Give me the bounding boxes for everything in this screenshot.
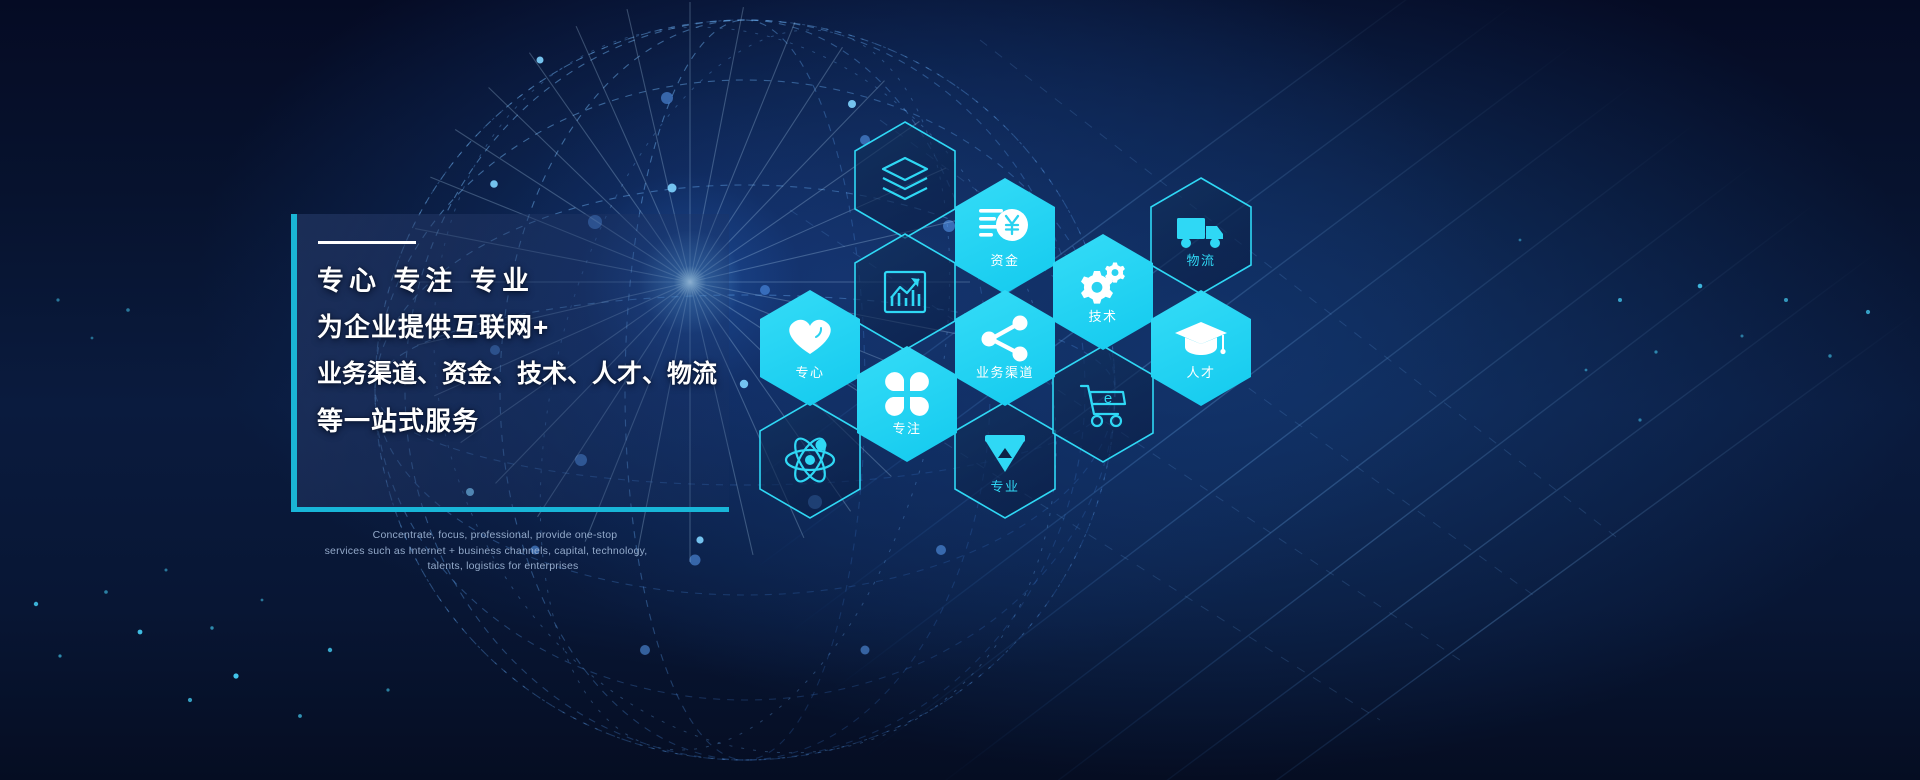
hexagon-label-zhuanye: 专业 [990, 476, 1019, 495]
headline-line-2: 为企业提供互联网+ [317, 304, 737, 351]
headline-line-4: 等一站式服务 [317, 398, 737, 445]
hexagon-label-yewuqudao: 业务渠道 [976, 362, 1034, 381]
hexagon-label-zijin: 资金 [990, 250, 1019, 269]
hexagon-zijin[interactable] [955, 178, 1055, 294]
subtitle-line-3: talents, logistics for enterprises [346, 559, 660, 575]
headline-text: 专心 专注 专业 为企业提供互联网+ 业务渠道、资金、技术、人才、物流 等一站式… [317, 258, 737, 445]
hexagon-yewuqudao[interactable] [955, 290, 1055, 406]
hexagon-atom[interactable] [760, 402, 860, 518]
hexagon-label-wuliu: 物流 [1186, 250, 1215, 269]
hexagon-label-zhuanzhu: 专注 [892, 418, 921, 437]
svg-text:e: e [1104, 390, 1112, 407]
hexagon-label-jishu: 技术 [1088, 306, 1117, 325]
headline-line-3: 业务渠道、资金、技术、人才、物流 [317, 351, 737, 398]
hexagon-label-zhuanxin: 专心 [795, 362, 824, 381]
hexagon-grid: e [735, 100, 1295, 540]
hexagon-zhuanzhu[interactable] [857, 346, 957, 462]
headline-line-1: 专心 专注 专业 [317, 258, 737, 304]
headline-panel: 专心 专注 专业 为企业提供互联网+ 业务渠道、资金、技术、人才、物流 等一站式… [291, 214, 729, 512]
subtitle-line-1: Concentrate, focus, professional, provid… [330, 528, 660, 544]
hexagon-ecart[interactable]: e [1053, 346, 1153, 462]
subtitle-line-2: services such as Internet + business cha… [312, 544, 660, 560]
hexagon-chart[interactable] [855, 234, 955, 350]
hexagon-label-rencai: 人才 [1186, 362, 1215, 381]
panel-top-rule [318, 241, 416, 244]
hexagon-layers[interactable] [855, 122, 955, 238]
hexagon-cluster: e [735, 100, 1295, 540]
hexagon-zhuanye[interactable] [955, 402, 1055, 518]
subtitle-text: Concentrate, focus, professional, provid… [330, 528, 660, 575]
hexagon-jishu[interactable] [1053, 234, 1153, 350]
hexagon-wuliu[interactable] [1151, 178, 1251, 294]
banner-stage: 专心 专注 专业 为企业提供互联网+ 业务渠道、资金、技术、人才、物流 等一站式… [0, 0, 1920, 780]
hexagon-rencai[interactable] [1151, 290, 1251, 406]
hexagon-zhuanxin[interactable] [760, 290, 860, 406]
